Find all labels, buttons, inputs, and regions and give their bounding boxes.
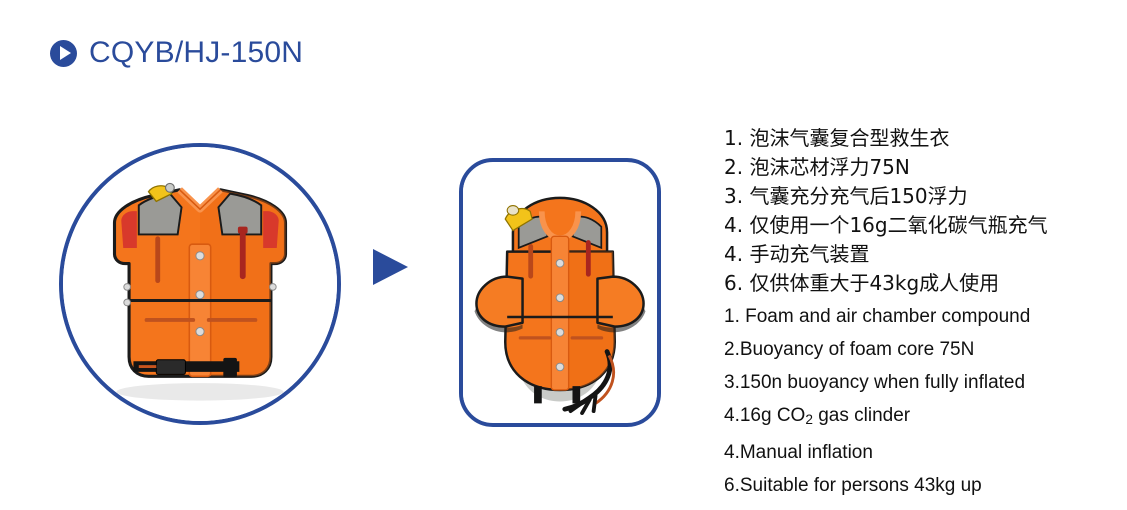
spec-cn-item-text: 气囊充分充气后150浮力 [749,184,967,208]
spec-en-item-text: Foam and air chamber compound [745,306,1030,327]
figure-before-inflation [59,143,341,425]
spec-en-item-text: 150n buoyancy when fully inflated [740,372,1025,393]
spec-en-item-text: Buoyancy of foam core 75N [740,339,974,360]
spec-en-item-text-after: gas clinder [813,405,910,426]
spec-en-item-subscript: 2 [805,412,813,427]
spec-en-item-text: Manual inflation [740,442,873,463]
spec-en-item-number: 4. [724,442,740,463]
spec-cn-item-number: 1. [724,126,743,150]
spec-en-item-text-before: 16g CO [740,405,805,426]
spec-en-item-text: Suitable for persons 43kg up [740,475,982,496]
spec-en-item-number: 1. [724,306,745,327]
spec-cn-item: 4. 仅使用一个16g二氧化碳气瓶充气 [724,211,1124,240]
spec-cn-item-text: 仅供体重大于43kg成人使用 [749,271,999,295]
life-jacket-uninflated-illustration [63,147,337,421]
spec-en-item-number: 3. [724,372,740,393]
spec-cn-item-text: 仅使用一个16g二氧化碳气瓶充气 [749,213,1047,237]
spec-cn-item: 3. 气囊充分充气后150浮力 [724,182,1124,211]
spec-en-item: 6.Suitable for persons 43kg up [724,469,1124,502]
spec-en-item: 3.150n buoyancy when fully inflated [724,366,1124,399]
spec-cn-item: 2. 泡沫芯材浮力75N [724,153,1124,182]
spec-en-item-number: 6. [724,475,740,496]
play-circle-icon [50,40,77,67]
spec-cn-item-number: 4. [724,242,743,266]
spec-en-item: 4.16g CO2 gas clinder [724,399,1124,436]
spec-cn-item: 6. 仅供体重大于43kg成人使用 [724,269,1124,298]
spec-cn-item: 4. 手动充气装置 [724,240,1124,269]
spec-list-chinese: 1. 泡沫气囊复合型救生衣 2. 泡沫芯材浮力75N 3. 气囊充分充气后150… [724,124,1124,298]
spec-cn-item: 1. 泡沫气囊复合型救生衣 [724,124,1124,153]
spec-en-item-number: 4. [724,405,740,426]
spec-cn-item-text: 泡沫芯材浮力75N [749,155,909,179]
spec-cn-item-text: 泡沫气囊复合型救生衣 [749,126,949,150]
right-triangle-arrow-icon [373,249,408,285]
spec-cn-item-number: 6. [724,271,743,295]
spec-cn-item-number: 2. [724,155,743,179]
spec-en-item: 4.Manual inflation [724,436,1124,469]
spec-cn-item-number: 3. [724,184,743,208]
page-title: CQYB/HJ-150N [89,38,303,68]
page-title-row: CQYB/HJ-150N [50,38,303,68]
spec-en-item: 2.Buoyancy of foam core 75N [724,333,1124,366]
spec-en-item-number: 2. [724,339,740,360]
spec-cn-item-text: 手动充气装置 [749,242,869,266]
life-jacket-inflated-illustration [463,162,657,423]
spec-list-english: 1. Foam and air chamber compound 2.Buoya… [724,300,1124,502]
spec-en-item: 1. Foam and air chamber compound [724,300,1124,333]
spec-cn-item-number: 4. [724,213,743,237]
play-triangle-glyph [60,46,71,60]
figure-after-inflation [459,158,661,427]
